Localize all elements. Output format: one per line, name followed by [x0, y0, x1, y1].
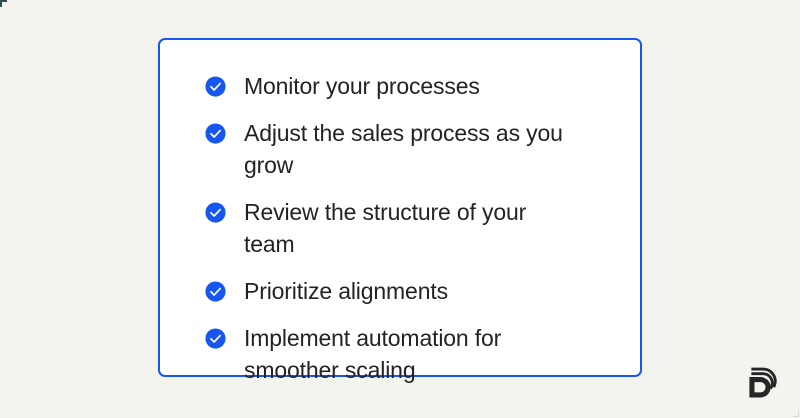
brand-d-logo — [746, 366, 780, 400]
check-circle-icon — [205, 281, 226, 302]
check-circle-icon — [205, 328, 226, 349]
check-circle-icon — [205, 123, 226, 144]
list-item: Review the structure of your team — [205, 196, 620, 260]
checklist: Monitor your processes Adjust the sales … — [205, 70, 620, 386]
list-item-label: Monitor your processes — [244, 70, 480, 102]
check-circle-icon — [205, 202, 226, 223]
checklist-card: Monitor your processes Adjust the sales … — [158, 38, 642, 377]
corner-mark-top-left — [0, 0, 7, 7]
list-item-label: Adjust the sales process as you grow — [244, 117, 574, 181]
list-item-label: Implement automation for smoother scalin… — [244, 322, 574, 386]
list-item-label: Review the structure of your team — [244, 196, 574, 260]
corner-mark-bottom-right — [793, 411, 799, 417]
list-item-label: Prioritize alignments — [244, 275, 448, 307]
page-canvas: Monitor your processes Adjust the sales … — [0, 0, 800, 418]
list-item: Adjust the sales process as you grow — [205, 117, 620, 181]
list-item: Implement automation for smoother scalin… — [205, 322, 620, 386]
list-item: Monitor your processes — [205, 70, 620, 102]
list-item: Prioritize alignments — [205, 275, 620, 307]
check-circle-icon — [205, 76, 226, 97]
